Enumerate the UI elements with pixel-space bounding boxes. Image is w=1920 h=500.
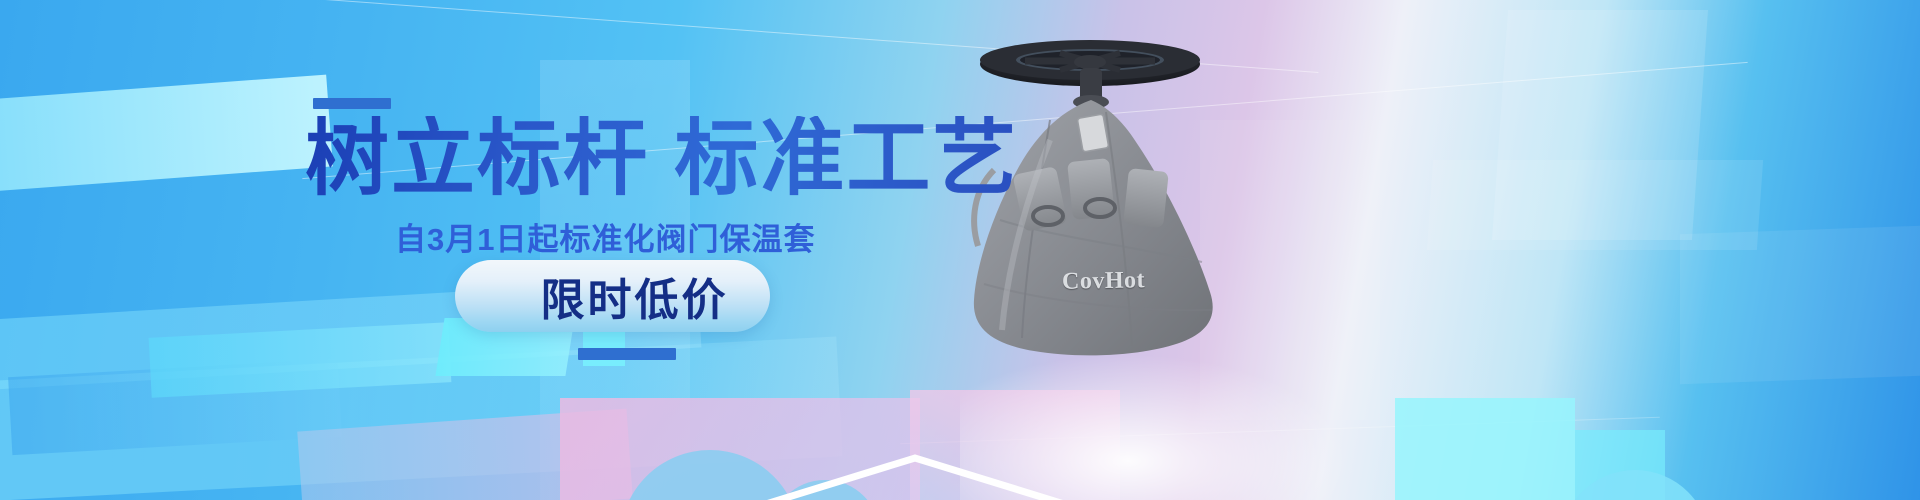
white-chevron-icon: [730, 452, 1100, 500]
decor-lavender-wash: [297, 409, 632, 500]
decor-light-panel-right-mid: [1427, 160, 1763, 250]
decor-diagonal-band-dark: [8, 359, 342, 455]
decor-light-panel-right-bottom: [1680, 226, 1920, 384]
page-title: 树立标杆 标准工艺: [305, 116, 1018, 200]
decor-cyan-block-wide: [149, 322, 452, 398]
cta-button-label: 限时低价: [497, 264, 729, 328]
promo-banner: CovHot 树立标杆 标准工艺 自3月1日起标准化阀门保温套 限时低价: [0, 0, 1920, 500]
cta-button[interactable]: 限时低价: [455, 260, 770, 332]
top-dash-accent: [313, 98, 391, 109]
decor-circle-right: [1560, 470, 1710, 500]
bottom-bar-accent: [578, 348, 676, 360]
banner-subtitle: 自3月1日起标准化阀门保温套: [395, 214, 815, 259]
decor-light-panel-right-top: [1492, 10, 1708, 240]
product-brand-logo: CovHot: [1062, 267, 1145, 295]
decor-diagonal-band-upper: [0, 75, 333, 194]
decor-cyan-block-right: [1395, 398, 1575, 500]
decor-light-ray-bottom: [900, 417, 1660, 445]
